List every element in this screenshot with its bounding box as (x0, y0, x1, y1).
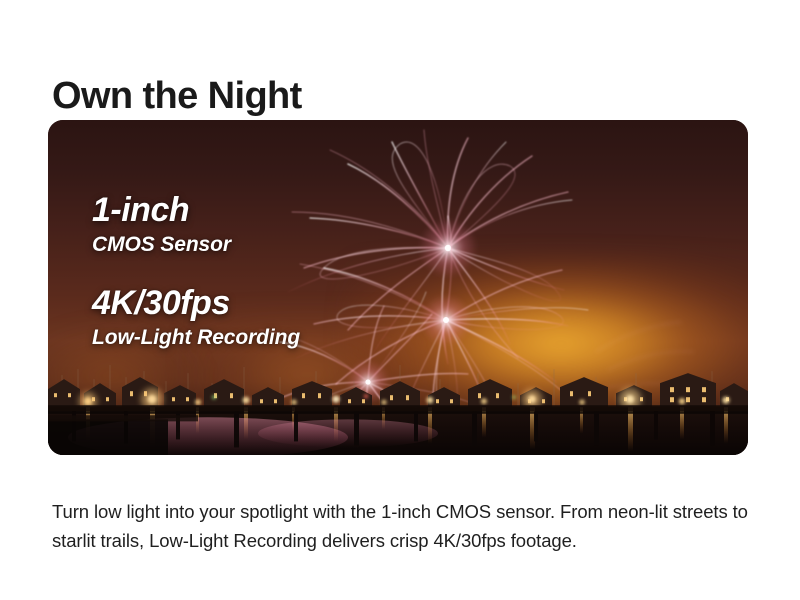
shoreline-svg (48, 355, 748, 456)
overlay-spec-one-headline: 1-inch (92, 192, 231, 228)
hero-image-card: 1-inch CMOS Sensor 4K/30fps Low-Light Re… (48, 120, 748, 455)
feature-description-paragraph: Turn low light into your spotlight with … (52, 497, 752, 557)
overlay-spec-two: 4K/30fps Low-Light Recording (92, 285, 300, 350)
page-title: Own the Night (52, 75, 302, 119)
harbor-shoreline-layer (48, 355, 748, 456)
overlay-spec-two-headline: 4K/30fps (92, 285, 300, 321)
overlay-spec-one: 1-inch CMOS Sensor (92, 192, 231, 257)
overlay-spec-two-sub: Low-Light Recording (92, 326, 300, 350)
overlay-spec-one-sub: CMOS Sensor (92, 233, 231, 257)
night-harbor-fireworks-scene: 1-inch CMOS Sensor 4K/30fps Low-Light Re… (48, 120, 748, 455)
product-feature-page: Own the Night (0, 0, 800, 600)
